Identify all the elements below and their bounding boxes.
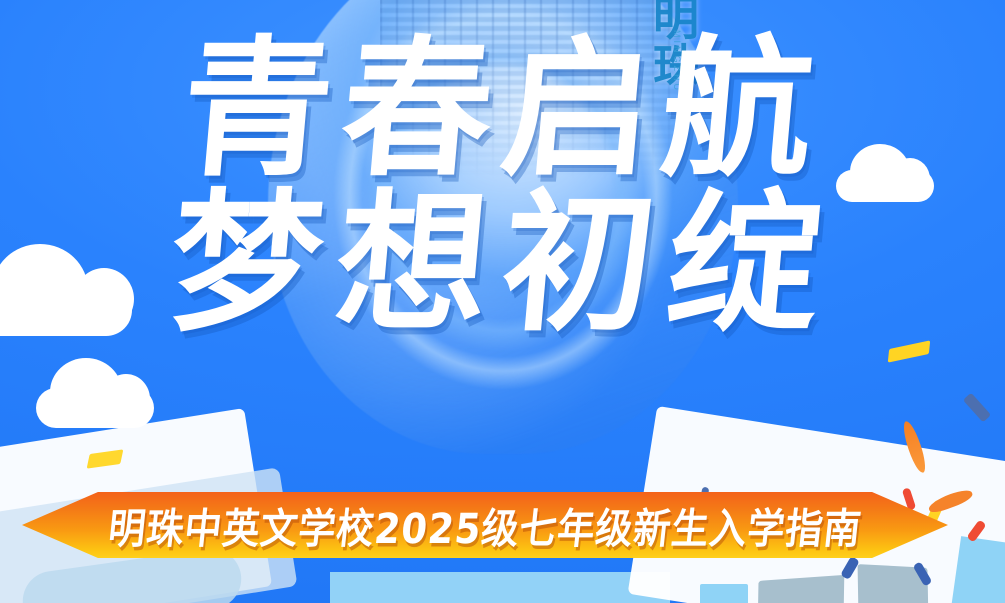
book-shape-left [700, 584, 748, 603]
headline-line-1: 青春启航 [0, 38, 1005, 182]
book-shape-center [758, 575, 845, 603]
headline-line-2: 梦想初绽 [0, 188, 1005, 340]
sky-strip-bottom-center [330, 572, 670, 603]
cloud-icon-left-lower [36, 388, 154, 428]
headline-block: 青春启航 梦想初绽 [0, 38, 1005, 340]
poster-canvas: 明珠 MINGZHU 青春启航 梦想初绽 明珠中英文学校2025级七年级新生入学… [0, 0, 1005, 603]
ribbon-label: 明珠中英文学校2025级七年级新生入学指南 [105, 495, 864, 555]
title-ribbon-banner: 明珠中英文学校2025级七年级新生入学指南 [22, 492, 948, 558]
sky-strip-right [951, 536, 1005, 603]
